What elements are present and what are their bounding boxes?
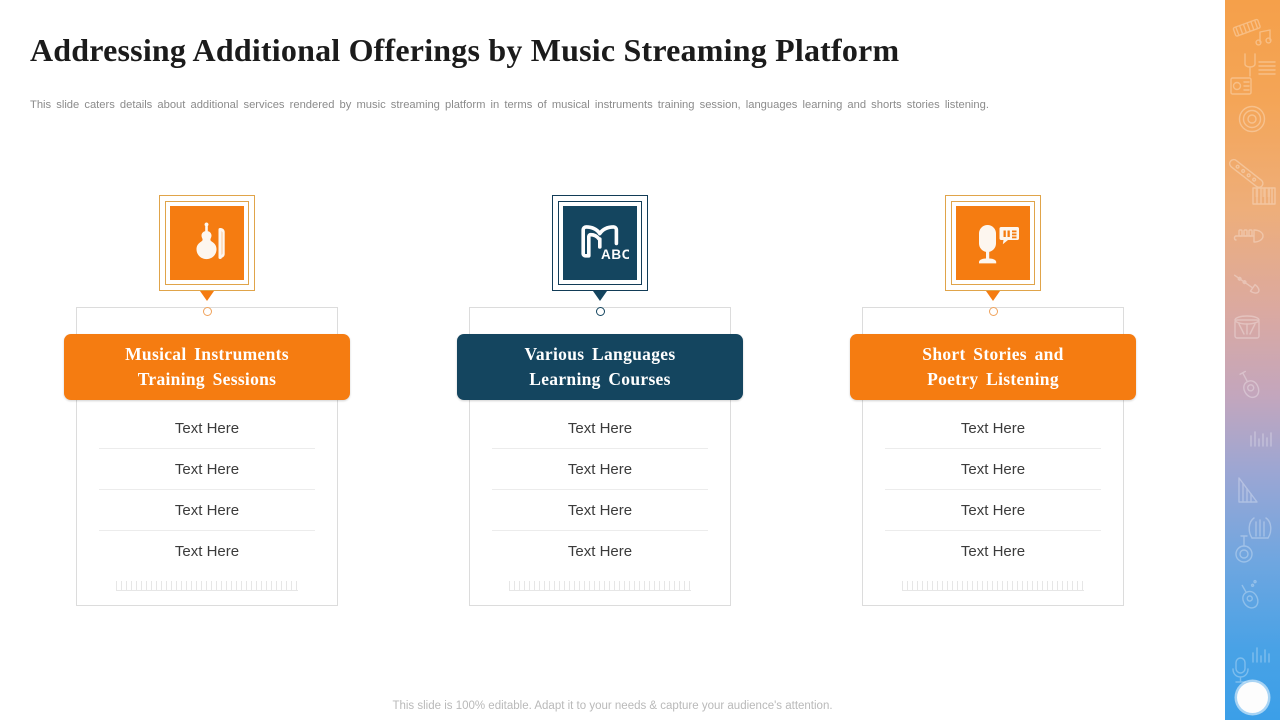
card-heading-line1: Short Stories and — [856, 342, 1130, 367]
card-rows-3: Text Here Text Here Text Here Text Here — [863, 408, 1123, 571]
icon-badge-3[interactable] — [945, 195, 1041, 291]
page-subtitle: This slide caters details about addition… — [30, 97, 1120, 113]
list-item[interactable]: Text Here — [99, 531, 315, 571]
open-book-abc-icon: ABC — [571, 217, 629, 269]
card-bottom-comb-decoration — [509, 581, 691, 591]
card-heading-line2: Training Sessions — [70, 367, 344, 392]
card-heading-1: Musical Instruments Training Sessions — [64, 334, 350, 400]
card-heading-3: Short Stories and Poetry Listening — [850, 334, 1136, 400]
offering-card-1[interactable]: Musical Instruments Training Sessions Te… — [76, 307, 338, 606]
card-heading-line2: Learning Courses — [463, 367, 737, 392]
offering-column-2[interactable]: ABC Various Languages Learning Courses — [455, 195, 745, 606]
connector-dot — [596, 307, 605, 316]
page-title: Addressing Additional Offerings by Music… — [30, 30, 1130, 70]
list-item[interactable]: Text Here — [492, 408, 708, 449]
card-heading-line1: Musical Instruments — [70, 342, 344, 367]
card-rows-1: Text Here Text Here Text Here Text Here — [77, 408, 337, 571]
offering-card-3[interactable]: Short Stories and Poetry Listening Text … — [862, 307, 1124, 606]
list-item[interactable]: Text Here — [99, 408, 315, 449]
card-rows-2: Text Here Text Here Text Here Text Here — [470, 408, 730, 571]
list-item[interactable]: Text Here — [492, 531, 708, 571]
list-item[interactable]: Text Here — [492, 449, 708, 490]
arrow-down-icon — [593, 291, 607, 301]
card-heading-2: Various Languages Learning Courses — [457, 334, 743, 400]
offering-column-3[interactable]: Short Stories and Poetry Listening Text … — [848, 195, 1138, 606]
list-item[interactable]: Text Here — [885, 449, 1101, 490]
rail-accent-circle — [1237, 682, 1268, 713]
rail-instrument-illustrations — [1225, 0, 1280, 720]
arrow-down-icon — [200, 291, 214, 301]
cello-with-bow-icon — [179, 215, 235, 271]
list-item[interactable]: Text Here — [492, 490, 708, 531]
list-item[interactable]: Text Here — [99, 490, 315, 531]
card-bottom-comb-decoration — [116, 581, 298, 591]
svg-text:ABC: ABC — [601, 247, 629, 262]
arrow-down-icon — [986, 291, 1000, 301]
card-heading-line1: Various Languages — [463, 342, 737, 367]
card-heading-line2: Poetry Listening — [856, 367, 1130, 392]
list-item[interactable]: Text Here — [885, 531, 1101, 571]
icon-badge-1[interactable] — [159, 195, 255, 291]
list-item[interactable]: Text Here — [885, 408, 1101, 449]
slide-root: Addressing Additional Offerings by Music… — [0, 0, 1280, 720]
card-bottom-comb-decoration — [902, 581, 1084, 591]
microphone-speech-bubble-icon — [964, 216, 1022, 270]
list-item[interactable]: Text Here — [99, 449, 315, 490]
icon-badge-2[interactable]: ABC — [552, 195, 648, 291]
connector-dot — [989, 307, 998, 316]
offering-card-2[interactable]: Various Languages Learning Courses Text … — [469, 307, 731, 606]
list-item[interactable]: Text Here — [885, 490, 1101, 531]
decorative-music-instruments-rail — [1225, 0, 1280, 720]
connector-dot — [203, 307, 212, 316]
footer-note: This slide is 100% editable. Adapt it to… — [0, 700, 1225, 712]
offering-column-1[interactable]: Musical Instruments Training Sessions Te… — [62, 195, 352, 606]
columns-container: Musical Instruments Training Sessions Te… — [0, 195, 1200, 606]
